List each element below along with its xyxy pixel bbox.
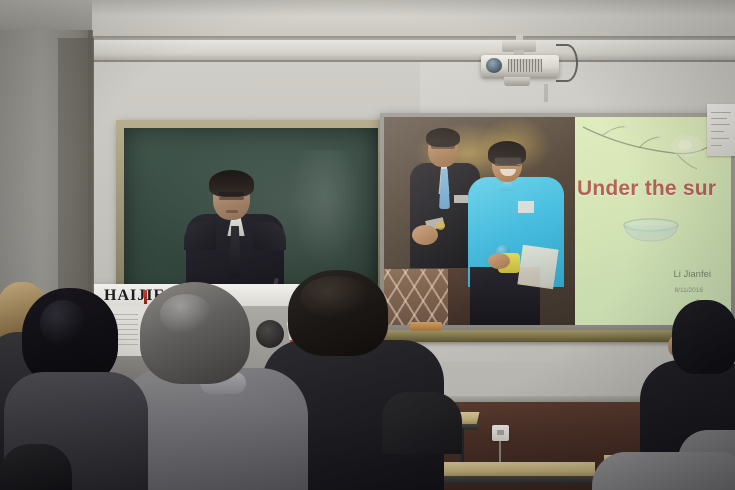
slide-page-number: 1 <box>575 299 699 305</box>
presenter-mouth <box>226 210 238 213</box>
pillar-top <box>0 0 92 30</box>
ceiling-soffit <box>90 40 735 62</box>
photo-man-glasses-icon <box>431 143 455 149</box>
projector-cable <box>556 44 578 82</box>
photo-woman-paper <box>517 245 558 290</box>
console-port-opening <box>256 320 284 348</box>
audience-member-hair-highlight <box>40 300 86 346</box>
photo-man-name-badge <box>454 195 468 203</box>
plum-blossom-branch-icon <box>581 119 713 179</box>
projector-vent <box>508 59 542 72</box>
audience-member-hair-highlight <box>300 276 370 318</box>
blackboard-eraser <box>410 322 442 331</box>
audience-member-body <box>592 452 735 490</box>
projector-lens-icon <box>486 58 502 73</box>
classroom-presentation-photo: Under the sur Li Jianfei 8/11/2016 1 <box>0 0 735 490</box>
slide-author: Li Jianfei <box>575 269 711 280</box>
blackboard-chalk-smudge <box>290 150 360 270</box>
audience-member-body <box>0 444 72 490</box>
celadon-bowl-icon <box>621 217 681 243</box>
audience-member-hair <box>672 300 735 374</box>
slide-date: 8/11/2016 <box>575 287 703 294</box>
photo-woman-hand <box>488 253 510 269</box>
presenter-shoulder-left <box>184 222 216 250</box>
projector-foot <box>504 77 530 86</box>
ceiling <box>0 0 735 40</box>
audience-member-arm <box>382 392 462 454</box>
slide-title: Under the sur <box>577 177 731 201</box>
presenter-brow <box>219 192 244 196</box>
slide-photograph <box>384 117 575 325</box>
audience-member-hair-highlight <box>160 294 212 334</box>
photo-woman-name-badge <box>518 201 534 213</box>
brand-accent-mark <box>144 290 147 304</box>
wall-notice-paper <box>707 104 735 156</box>
outlet-socket <box>497 430 504 435</box>
photo-man-watch <box>436 221 445 230</box>
projector-wall-stem <box>544 84 548 102</box>
photo-woman-glasses-icon <box>494 157 522 166</box>
presenter-eyes <box>219 197 244 200</box>
photo-man-hand <box>412 225 438 245</box>
